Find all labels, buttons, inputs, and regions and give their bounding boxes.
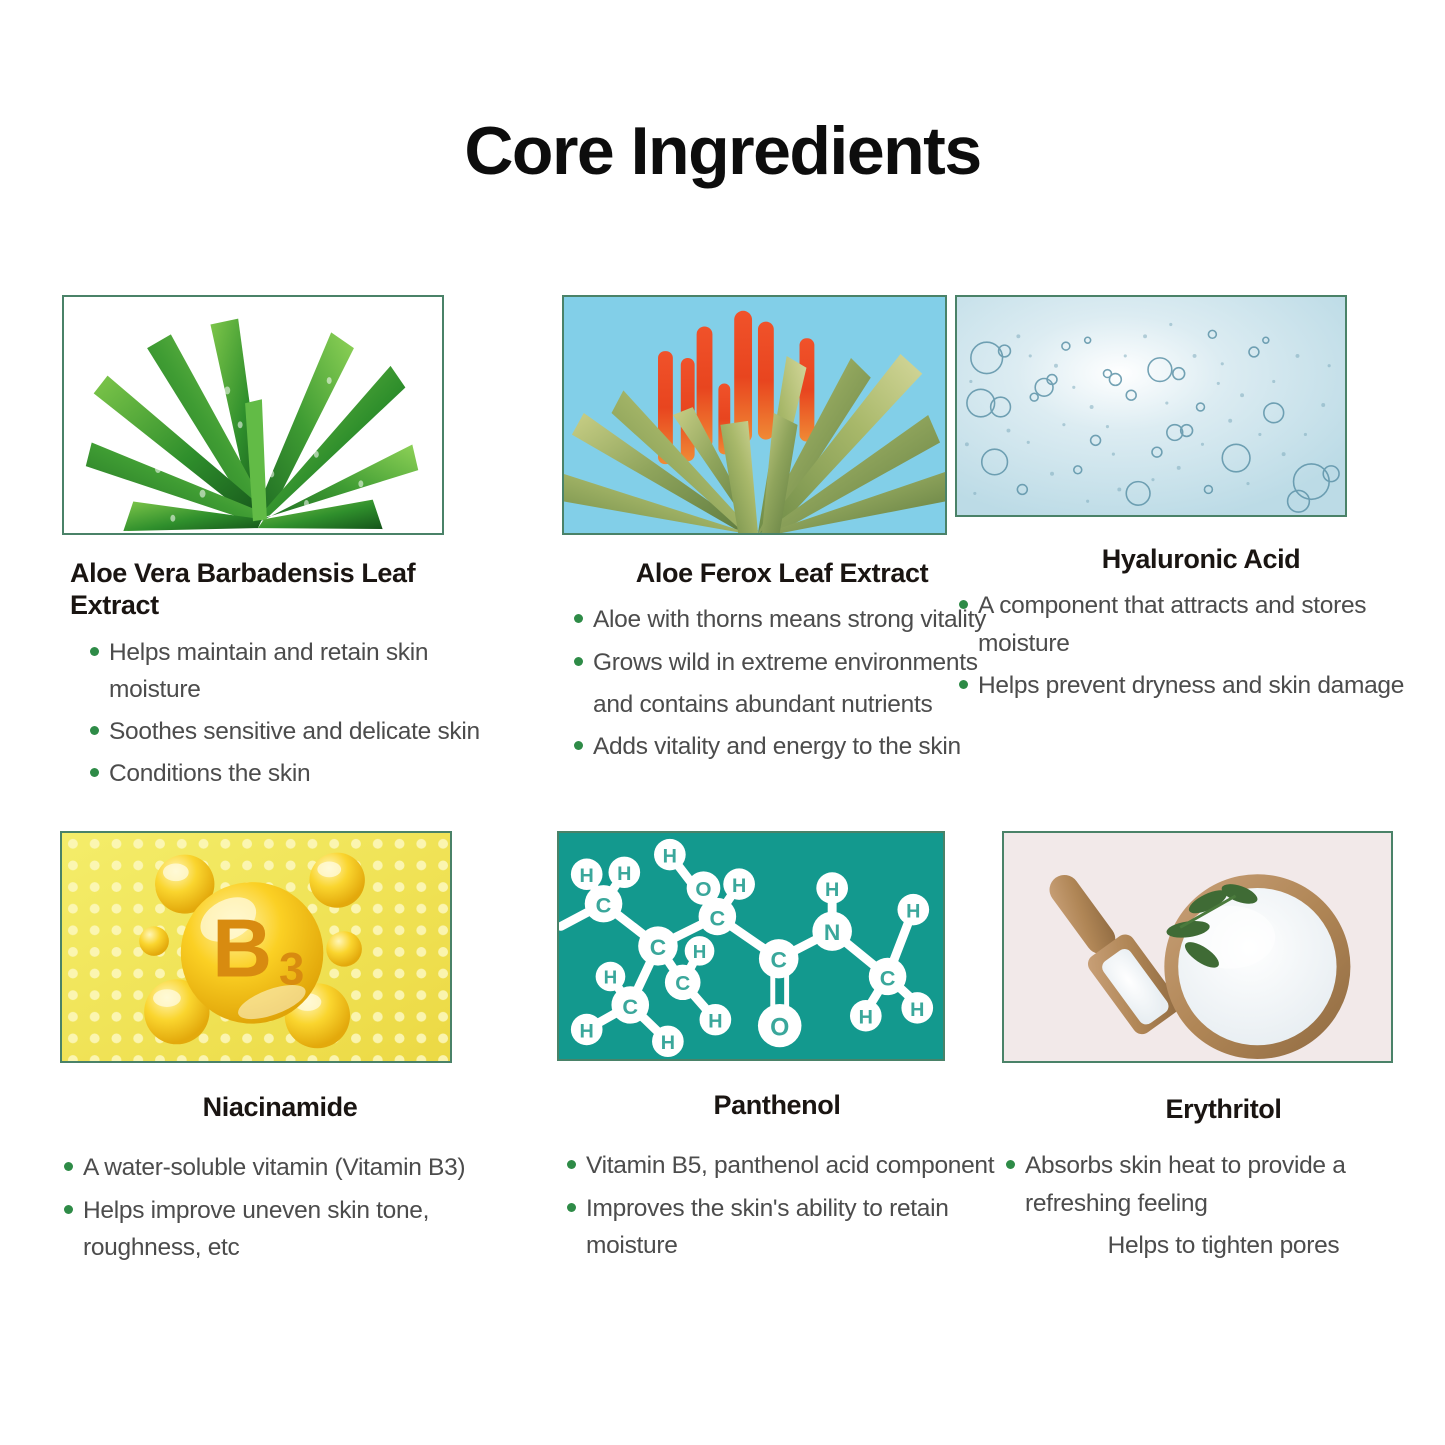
svg-text:O: O [770,1014,789,1041]
list-item: Absorbs skin heat to provide a refreshin… [1002,1147,1445,1221]
ingredient-row-top: Aloe Vera Barbadensis Leaf Extract Helps… [0,295,1445,825]
svg-text:C: C [622,994,638,1019]
ingredient-card-erythritol: Erythritol Absorbs skin heat to provide … [1002,831,1445,1280]
ingredient-benefits: Aloe with thorns means strong vitality G… [570,601,1002,765]
vitamin-b3-golden-droplet-illustration: B 3 [60,831,452,1063]
ingredient-name: Panthenol [557,1089,997,1121]
svg-text:H: H [859,1007,873,1029]
ingredient-name: Hyaluronic Acid [955,543,1445,575]
ingredient-grid: Aloe Vera Barbadensis Leaf Extract Helps… [0,295,1445,1361]
hyaluronic-acid-gel-bubbles-photo [955,295,1347,517]
ingredient-name: Aloe Vera Barbadensis Leaf Extract [62,557,502,622]
svg-text:H: H [708,1011,722,1033]
panthenol-molecular-structure-diagram: H H C H O H C C H C H H [557,831,945,1061]
svg-text:H: H [906,901,920,923]
list-item: Adds vitality and energy to the skin [570,728,1002,765]
ingredient-benefits: A component that attracts and stores moi… [955,587,1445,704]
ingredient-name: Erythritol [1002,1093,1445,1125]
svg-text:C: C [650,934,666,960]
svg-text:H: H [580,865,594,887]
svg-text:H: H [661,1032,675,1054]
list-item-continuation: and contains abundant nutrients [570,686,1002,723]
ingredient-benefits: Helps maintain and retain skin moisture … [86,634,502,793]
svg-text:H: H [580,1020,594,1042]
list-item: Improves the skin's ability to retain mo… [563,1190,997,1264]
svg-text:H: H [910,999,924,1021]
svg-text:C: C [675,972,690,995]
ingredient-card-aloe-ferox: Aloe Ferox Leaf Extract Aloe with thorns… [562,295,1002,781]
svg-text:B: B [212,902,272,995]
ingredient-name: Aloe Ferox Leaf Extract [562,557,1002,589]
ingredient-benefits: Vitamin B5, panthenol acid component Imp… [563,1147,997,1264]
svg-text:H: H [663,846,677,868]
svg-text:C: C [596,893,612,918]
aloe-vera-plant-photo [62,295,444,535]
ingredient-card-aloe-vera: Aloe Vera Barbadensis Leaf Extract Helps… [62,295,502,809]
ingredient-benefits: Absorbs skin heat to provide a refreshin… [1002,1147,1445,1264]
list-item: Helps maintain and retain skin moisture [86,634,502,708]
ingredient-name: Niacinamide [60,1091,500,1123]
ingredient-card-panthenol: H H C H O H C C H C H H [557,831,997,1280]
list-item: Helps improve uneven skin tone, roughnes… [60,1192,500,1266]
svg-text:H: H [604,966,618,987]
svg-text:C: C [880,965,896,990]
svg-text:H: H [693,941,707,962]
ingredient-card-niacinamide: B 3 Niacinamide A water-soluble vitamin … [60,831,500,1282]
svg-text:3: 3 [279,943,304,994]
infographic-page: Core Ingredients [0,0,1445,1445]
ingredient-card-hyaluronic-acid: Hyaluronic Acid A component that attract… [955,295,1445,720]
svg-text:N: N [824,919,840,945]
ingredient-benefits: A water-soluble vitamin (Vitamin B3) Hel… [60,1149,500,1266]
list-item: A component that attracts and stores moi… [955,587,1445,661]
list-item: Conditions the skin [86,755,502,792]
list-item: Aloe with thorns means strong vitality [570,601,1002,638]
list-item: Grows wild in extreme environments [570,644,1002,681]
list-item-continuation: Helps to tighten pores [1002,1227,1445,1264]
svg-text:H: H [732,875,746,897]
svg-text:C: C [770,947,786,973]
list-item: Soothes sensitive and delicate skin [86,713,502,750]
list-item: A water-soluble vitamin (Vitamin B3) [60,1149,500,1186]
aloe-ferox-flowering-plant-photo [562,295,947,535]
erythritol-powder-wooden-scoop-photo [1002,831,1393,1063]
svg-text:O: O [695,878,711,901]
svg-text:C: C [709,905,725,930]
page-title: Core Ingredients [0,112,1445,190]
ingredient-row-bottom: B 3 Niacinamide A water-soluble vitamin … [0,831,1445,1361]
list-item: Helps prevent dryness and skin damage [955,667,1445,704]
svg-text:H: H [825,879,839,901]
svg-text:H: H [617,863,631,885]
list-item: Vitamin B5, panthenol acid component [563,1147,997,1184]
